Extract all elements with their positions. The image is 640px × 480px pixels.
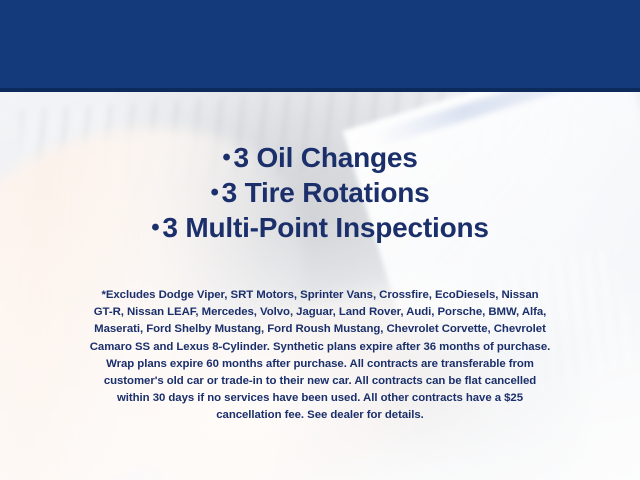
list-item: •3 Oil Changes bbox=[0, 140, 640, 175]
list-item-label: 3 Multi-Point Inspections bbox=[162, 212, 488, 243]
disclaimer-line: Camaro SS and Lexus 8-Cylinder. Syntheti… bbox=[26, 339, 614, 356]
list-item: •3 Tire Rotations bbox=[0, 175, 640, 210]
bullet-dot-icon: • bbox=[151, 214, 162, 241]
disclaimer-line: *Excludes Dodge Viper, SRT Motors, Sprin… bbox=[26, 287, 614, 304]
disclaimer-line: GT-R, Nissan LEAF, Mercedes, Volvo, Jagu… bbox=[26, 304, 614, 321]
bullet-dot-icon: • bbox=[210, 179, 221, 206]
bullet-dot-icon: • bbox=[222, 144, 233, 171]
extracare-promo-card: ExtraCare Package* •3 Oil Changes •3 Tir… bbox=[0, 0, 640, 480]
list-item-label: 3 Oil Changes bbox=[234, 142, 418, 173]
header-divider-rule bbox=[0, 88, 640, 92]
disclaimer-line: Wrap plans expire 60 months after purcha… bbox=[26, 356, 614, 373]
list-item: •3 Multi-Point Inspections bbox=[0, 210, 640, 245]
disclaimer-line: Maserati, Ford Shelby Mustang, Ford Rous… bbox=[26, 321, 614, 338]
header-banner bbox=[0, 0, 640, 88]
benefits-list: •3 Oil Changes •3 Tire Rotations •3 Mult… bbox=[0, 140, 640, 245]
disclaimer-line: customer's old car or trade-in to their … bbox=[26, 373, 614, 390]
disclaimer-line: within 30 days if no services have been … bbox=[26, 390, 614, 407]
list-item-label: 3 Tire Rotations bbox=[222, 177, 430, 208]
disclaimer-line: cancellation fee. See dealer for details… bbox=[26, 407, 614, 424]
disclaimer-text: *Excludes Dodge Viper, SRT Motors, Sprin… bbox=[26, 287, 614, 425]
